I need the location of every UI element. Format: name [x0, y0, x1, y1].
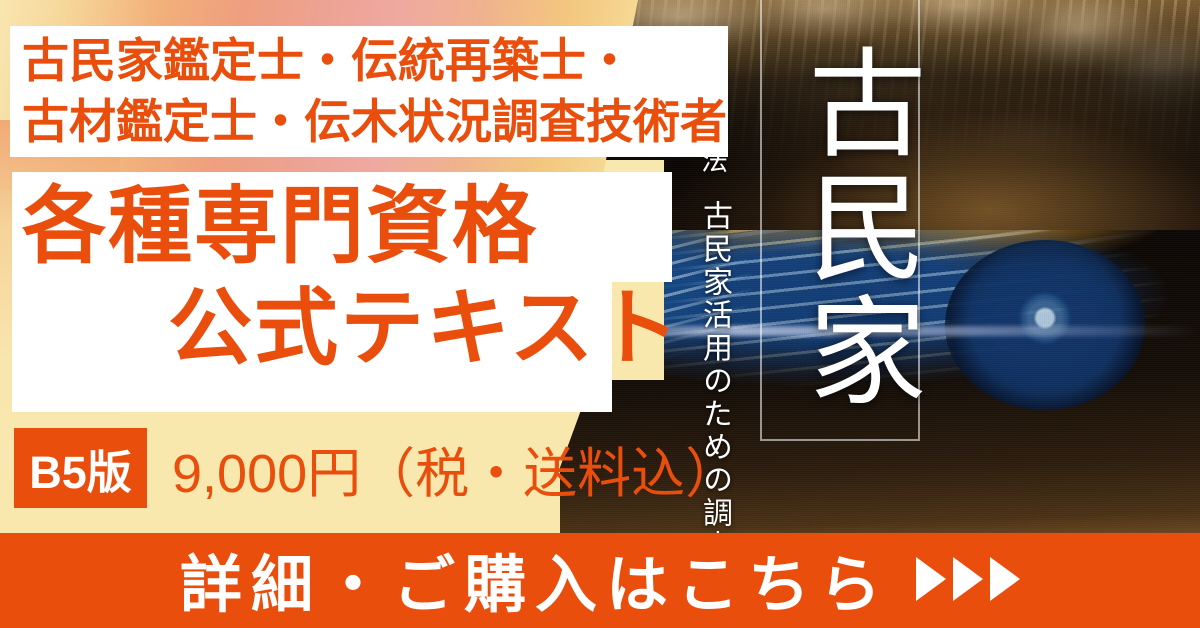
qualifications-line-2: 古材鑑定士・伝木状況調査技術者 [22, 92, 728, 152]
cta-label: 詳細・ご購入はこちら [180, 534, 890, 624]
format-badge: B5版 [14, 428, 147, 508]
price-text: 9,000円（税・送料込） [172, 430, 739, 506]
play-arrow-icon-2 [953, 557, 983, 601]
cta-arrow-group [916, 557, 1020, 601]
qualifications-text: 古民家鑑定士・伝統再築士・ 古材鑑定士・伝木状況調査技術者 [14, 28, 728, 155]
headline-line-2: 公式テキスト [168, 286, 681, 370]
cover-title-text: 古民家 [760, 8, 920, 448]
cta-bar[interactable]: 詳細・ご購入はこちら [0, 533, 1200, 628]
qualifications-line-1: 古民家鑑定士・伝統再築士・ [22, 31, 728, 91]
play-arrow-icon-1 [916, 557, 946, 601]
blue-medallion-ornament [945, 240, 1145, 410]
promo-banner: 古民家 伝統構法 古民家活用のための調査と再生の 古民家鑑定士・伝統再築士・ 古… [0, 0, 1200, 628]
play-arrow-icon-3 [990, 557, 1020, 601]
headline-line-1: 各種専門資格 [22, 184, 538, 268]
